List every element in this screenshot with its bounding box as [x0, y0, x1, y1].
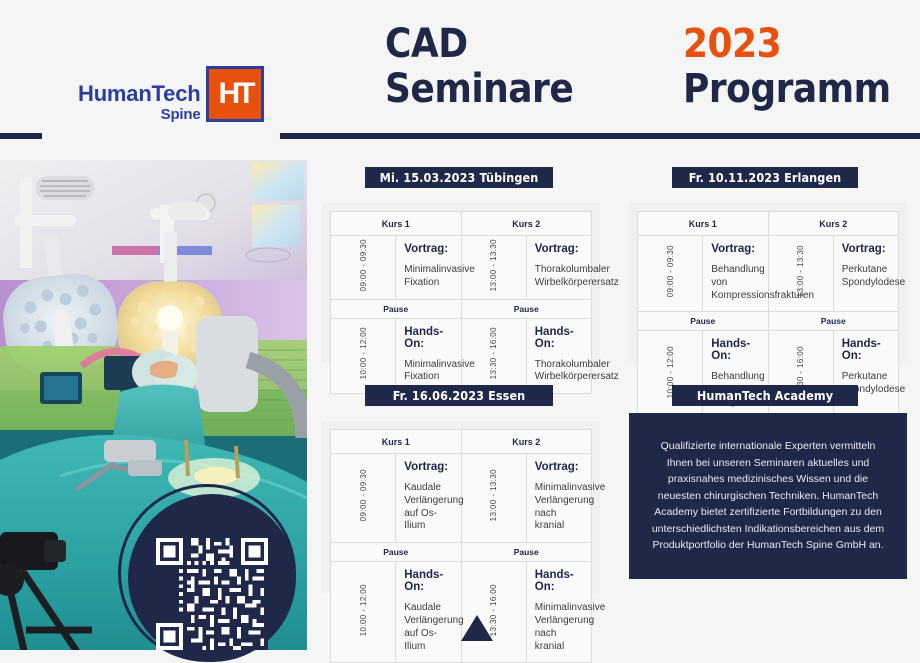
seminar-banner-label: Fr. 16.06.2023 Essen [393, 388, 526, 403]
kurs2-handson-cell: Hands-On: Thorakolumbaler Wirbelkörperer… [526, 318, 591, 394]
kurs2-handson-time-cell: 13:30 - 16:00 [461, 318, 526, 394]
header: HumanTech Spine HT CAD Seminare 2023 Pro… [0, 0, 920, 150]
table-row-header: Kurs 1 Kurs 2 [638, 212, 899, 236]
kurs1-handson-label: Hands-On: [404, 569, 452, 593]
triangle-marker-icon [461, 615, 493, 641]
title-right: 2023 Programm [683, 22, 920, 112]
kurs2-vortrag-cell: Vortrag: Thorakolumbaler Wirbelkörperers… [526, 236, 591, 300]
kurs1-vortrag-cell: Vortrag: Behandlung von Kompressionsfrak… [703, 236, 768, 312]
kurs2-handson-label: Hands-On: [535, 569, 583, 593]
kurs1-handson-time-cell: 10:00 - 12:00 [638, 331, 703, 419]
kurs1-handson-label: Hands-On: [404, 326, 452, 350]
kurs1-pause: Pause [331, 299, 462, 318]
title-left-line1: CAD [385, 22, 645, 67]
seminar-banner-tuebingen: Mi. 15.03.2023 Tübingen [365, 167, 553, 188]
kurs2-handson-label: Hands-On: [842, 338, 890, 362]
schedule-table-essen: Kurs 1 Kurs 2 09:00 - 09:30 Vortrag: Kau… [322, 421, 600, 593]
kurs1-handson-time-cell: 10:00 - 12:00 [331, 318, 396, 394]
table-row-handson: 10:00 - 12:00 Hands-On: Kaudale Verlänge… [331, 562, 592, 663]
table-row-vortrag: 09:00 - 09:30 Vortrag: Kaudale Verlänger… [331, 454, 592, 543]
academy-banner: HumanTech Academy [672, 385, 858, 406]
kurs2-vortrag-time: 13:00 - 13:30 [489, 239, 498, 291]
table-row-pause: Pause Pause [638, 312, 899, 331]
kurs2-pause: Pause [768, 312, 899, 331]
kurs2-vortrag-time-cell: 13:00 - 13:30 [461, 454, 526, 543]
kurs1-handson-topic: Minimalinvasive Fixation [404, 359, 452, 385]
kurs2-vortrag-label: Vortrag: [842, 243, 890, 255]
academy-banner-label: HumanTech Academy [697, 388, 833, 403]
humantech-logo: HumanTech Spine HT [78, 66, 264, 122]
kurs1-vortrag-label: Vortrag: [404, 461, 452, 473]
kurs1-header: Kurs 1 [638, 212, 769, 236]
kurs1-handson-time: 10:00 - 12:00 [359, 327, 368, 379]
kurs1-handson-cell: Hands-On: Behandlung von Kompressionsfra… [703, 331, 768, 419]
kurs2-handson-topic: Thorakolumbaler Wirbelkörperersatz [535, 359, 583, 385]
kurs2-vortrag-cell: Vortrag: Minimalinvasive Verlängerung na… [526, 454, 591, 543]
kurs2-handson-topic: Minimalinvasive Verlängerung nach krania… [535, 602, 583, 653]
kurs2-header: Kurs 2 [768, 212, 899, 236]
qr-code[interactable] [153, 538, 271, 650]
kurs1-vortrag-time: 09:00 - 09:30 [359, 469, 368, 521]
kurs1-handson-cell: Hands-On: Kaudale Verlängerung auf Os-Il… [396, 562, 461, 663]
logo-line-humantech: HumanTech [78, 83, 200, 105]
kurs2-vortrag-time: 13:00 - 13:30 [796, 245, 805, 297]
kurs1-vortrag-label: Vortrag: [404, 243, 452, 255]
kurs1-pause: Pause [331, 543, 462, 562]
title-left-line2: Seminare [385, 67, 645, 112]
kurs2-vortrag-label: Vortrag: [535, 243, 583, 255]
table-row-handson: 10:00 - 12:00 Hands-On: Minimalinvasive … [331, 318, 592, 394]
kurs1-handson-label: Hands-On: [711, 338, 759, 362]
kurs2-header: Kurs 2 [461, 430, 592, 454]
kurs1-vortrag-cell: Vortrag: Kaudale Verlängerung auf Os-Ili… [396, 454, 461, 543]
kurs1-handson-topic: Kaudale Verlängerung auf Os-Ilium [404, 602, 452, 653]
kurs1-handson-time-cell: 10:00 - 12:00 [331, 562, 396, 663]
table-row-pause: Pause Pause [331, 543, 592, 562]
title-right-year: 2023 [683, 22, 920, 67]
table-row-pause: Pause Pause [331, 299, 592, 318]
logo-ht-letters: HT [209, 69, 261, 119]
kurs1-pause: Pause [638, 312, 769, 331]
header-rule-main [280, 133, 920, 139]
table-row-header: Kurs 1 Kurs 2 [331, 430, 592, 454]
kurs1-vortrag-time-cell: 09:00 - 09:30 [331, 236, 396, 300]
poster-page: HumanTech Spine HT CAD Seminare 2023 Pro… [0, 0, 920, 650]
kurs1-header: Kurs 1 [331, 212, 462, 236]
kurs2-handson-cell: Hands-On: Perkutane Spondylodese [833, 331, 898, 419]
logo-line-spine: Spine [161, 107, 201, 122]
kurs1-vortrag-topic: Kaudale Verlängerung auf Os-Ilium [404, 482, 452, 533]
kurs2-vortrag-topic: Thorakolumbaler Wirbelkörperersatz [535, 264, 583, 290]
academy-description-box: Qualifizierte internationale Experten ve… [629, 413, 907, 579]
table-row-vortrag: 09:00 - 09:30 Vortrag: Minimalinvasive F… [331, 236, 592, 300]
kurs2-vortrag-time: 13:00 - 13:30 [489, 469, 498, 521]
logo-wordmark: HumanTech Spine [78, 83, 200, 122]
kurs1-vortrag-time-cell: 09:00 - 09:30 [638, 236, 703, 312]
schedule-table-erlangen: Kurs 1 Kurs 2 09:00 - 09:30 Vortrag: Beh… [629, 203, 907, 363]
kurs2-vortrag-topic: Minimalinvasive Verlängerung nach krania… [535, 482, 583, 533]
kurs2-pause: Pause [461, 299, 592, 318]
table-row-vortrag: 09:00 - 09:30 Vortrag: Behandlung von Ko… [638, 236, 899, 312]
table-row-header: Kurs 1 Kurs 2 [331, 212, 592, 236]
header-rule-left [0, 133, 42, 139]
kurs2-pause: Pause [461, 543, 592, 562]
kurs2-handson-cell: Hands-On: Minimalinvasive Verlängerung n… [526, 562, 591, 663]
academy-description-text: Qualifizierte internationale Experten ve… [647, 438, 889, 554]
kurs1-vortrag-time: 09:00 - 09:30 [359, 239, 368, 291]
kurs1-vortrag-cell: Vortrag: Minimalinvasive Fixation [396, 236, 461, 300]
seminar-banner-label: Mi. 15.03.2023 Tübingen [380, 170, 539, 185]
schedule-table-tuebingen: Kurs 1 Kurs 2 09:00 - 09:30 Vortrag: Min… [322, 203, 600, 363]
kurs2-handson-label: Hands-On: [535, 326, 583, 350]
kurs1-vortrag-time: 09:00 - 09:30 [666, 245, 675, 297]
title-left: CAD Seminare [385, 22, 645, 112]
kurs1-vortrag-topic: Minimalinvasive Fixation [404, 264, 452, 290]
kurs2-handson-time-cell: 13:30 - 16:00 [461, 562, 526, 663]
kurs2-vortrag-label: Vortrag: [535, 461, 583, 473]
kurs2-handson-time: 13:30 - 16:00 [489, 327, 498, 379]
title-right-line2: Programm [683, 67, 920, 112]
logo-ht-mark-icon: HT [206, 66, 264, 122]
kurs2-vortrag-topic: Perkutane Spondylodese [842, 264, 890, 290]
seminar-banner-erlangen: Fr. 10.11.2023 Erlangen [672, 167, 858, 188]
seminar-banner-label: Fr. 10.11.2023 Erlangen [689, 170, 842, 185]
kurs1-handson-time: 10:00 - 12:00 [359, 584, 368, 636]
kurs2-vortrag-cell: Vortrag: Perkutane Spondylodese [833, 236, 898, 312]
kurs2-header: Kurs 2 [461, 212, 592, 236]
kurs1-vortrag-topic: Behandlung von Kompressionsfrakturen [711, 264, 759, 302]
kurs1-header: Kurs 1 [331, 430, 462, 454]
kurs1-handson-cell: Hands-On: Minimalinvasive Fixation [396, 318, 461, 394]
seminar-banner-essen: Fr. 16.06.2023 Essen [365, 385, 553, 406]
kurs1-vortrag-time-cell: 09:00 - 09:30 [331, 454, 396, 543]
kurs1-vortrag-label: Vortrag: [711, 243, 759, 255]
table-row-handson: 10:00 - 12:00 Hands-On: Behandlung von K… [638, 331, 899, 419]
